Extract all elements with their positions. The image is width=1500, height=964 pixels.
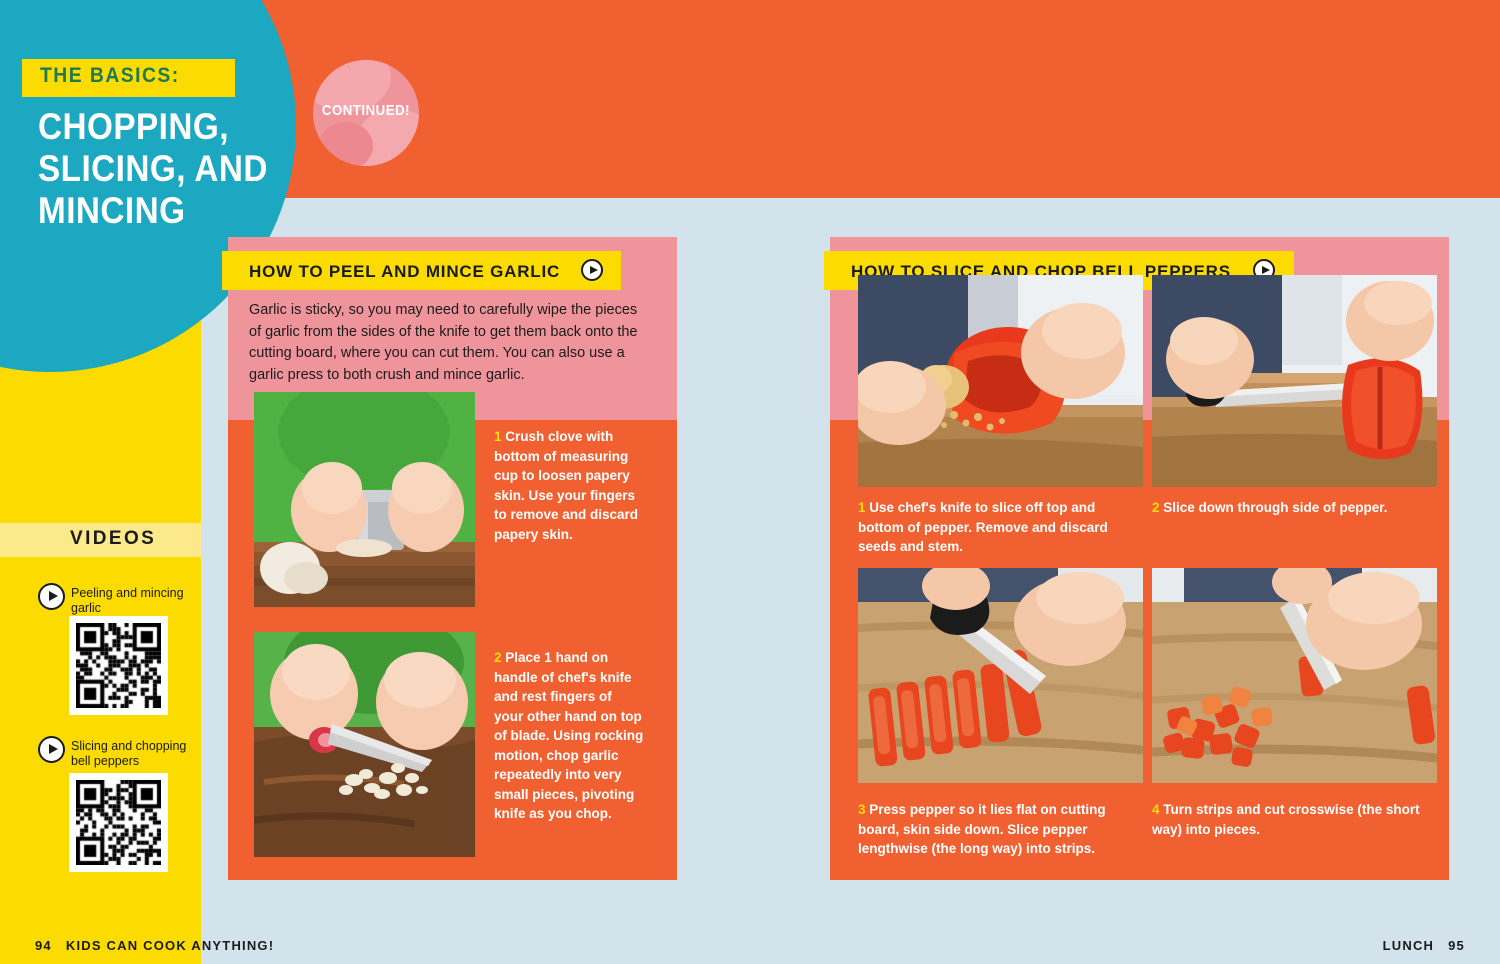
qr-canvas <box>76 623 161 708</box>
photo-garlic-step-2 <box>254 632 475 857</box>
step-body: Crush clove with bottom of measuring cup… <box>494 429 638 542</box>
play-icon[interactable] <box>581 259 603 281</box>
pepper-step-1-text: 1 Use chef's knife to slice off top and … <box>858 498 1138 557</box>
photo-illustration <box>1152 568 1437 783</box>
play-icon[interactable] <box>38 583 65 610</box>
photo-illustration <box>1152 275 1437 487</box>
step-number: 3 <box>858 802 866 817</box>
step-body: Use chef's knife to slice off top and bo… <box>858 500 1108 554</box>
garlic-step-1-text: 1 Crush clove with bottom of measuring c… <box>494 427 644 544</box>
footer-left-label: KIDS CAN COOK ANYTHING! <box>66 938 274 953</box>
videos-title: VIDEOS <box>70 528 156 550</box>
continued-badge: CONTINUED! <box>313 60 419 166</box>
photo-illustration <box>858 275 1143 487</box>
qr-code-peppers[interactable] <box>69 773 168 872</box>
step-number: 1 <box>494 429 502 444</box>
footer-right-label: LUNCH <box>1383 938 1435 953</box>
step-body: Press pepper so it lies flat on cutting … <box>858 802 1106 856</box>
garlic-banner-label: HOW TO PEEL AND MINCE GARLIC <box>249 262 560 282</box>
step-body: Slice down through side of pepper. <box>1163 500 1387 515</box>
step-number: 1 <box>858 500 866 515</box>
step-body: Place 1 hand on handle of chef's knife a… <box>494 650 643 821</box>
continued-label: CONTINUED! <box>319 102 412 119</box>
photo-pepper-step-2 <box>1152 275 1437 487</box>
video-label: Slicing and chopping bell peppers <box>71 739 191 769</box>
photo-illustration <box>254 632 475 857</box>
photo-pepper-step-3 <box>858 568 1143 783</box>
video-label: Peeling and mincing garlic <box>71 586 191 616</box>
page-title: CHOPPING, SLICING, AND MINCING <box>38 106 335 232</box>
photo-pepper-step-4 <box>1152 568 1437 783</box>
photo-garlic-step-1 <box>254 392 475 607</box>
qr-canvas <box>76 780 161 865</box>
footer-left-page-number: 94 <box>35 938 52 953</box>
qr-code-garlic[interactable] <box>69 616 168 715</box>
photo-illustration <box>858 568 1143 783</box>
step-body: Turn strips and cut crosswise (the short… <box>1152 802 1420 837</box>
play-icon[interactable] <box>38 736 65 763</box>
eyebrow-label: THE BASICS: <box>40 64 180 88</box>
footer-left: 94KIDS CAN COOK ANYTHING! <box>35 938 274 953</box>
footer-right-page-number: 95 <box>1448 938 1465 953</box>
step-number: 4 <box>1152 802 1160 817</box>
pepper-step-3-text: 3 Press pepper so it lies flat on cuttin… <box>858 800 1138 859</box>
step-number: 2 <box>494 650 502 665</box>
footer-right: LUNCH95 <box>1383 938 1465 953</box>
cookbook-spread: THE BASICS: CHOPPING, SLICING, AND MINCI… <box>0 0 1500 964</box>
garlic-step-2-text: 2 Place 1 hand on handle of chef's knife… <box>494 648 644 824</box>
photo-illustration <box>254 392 475 607</box>
garlic-intro-text: Garlic is sticky, so you may need to car… <box>249 300 649 386</box>
badge-blob <box>319 122 373 166</box>
pepper-step-2-text: 2 Slice down through side of pepper. <box>1152 498 1432 518</box>
photo-pepper-step-1 <box>858 275 1143 487</box>
pepper-step-4-text: 4 Turn strips and cut crosswise (the sho… <box>1152 800 1432 839</box>
step-number: 2 <box>1152 500 1160 515</box>
